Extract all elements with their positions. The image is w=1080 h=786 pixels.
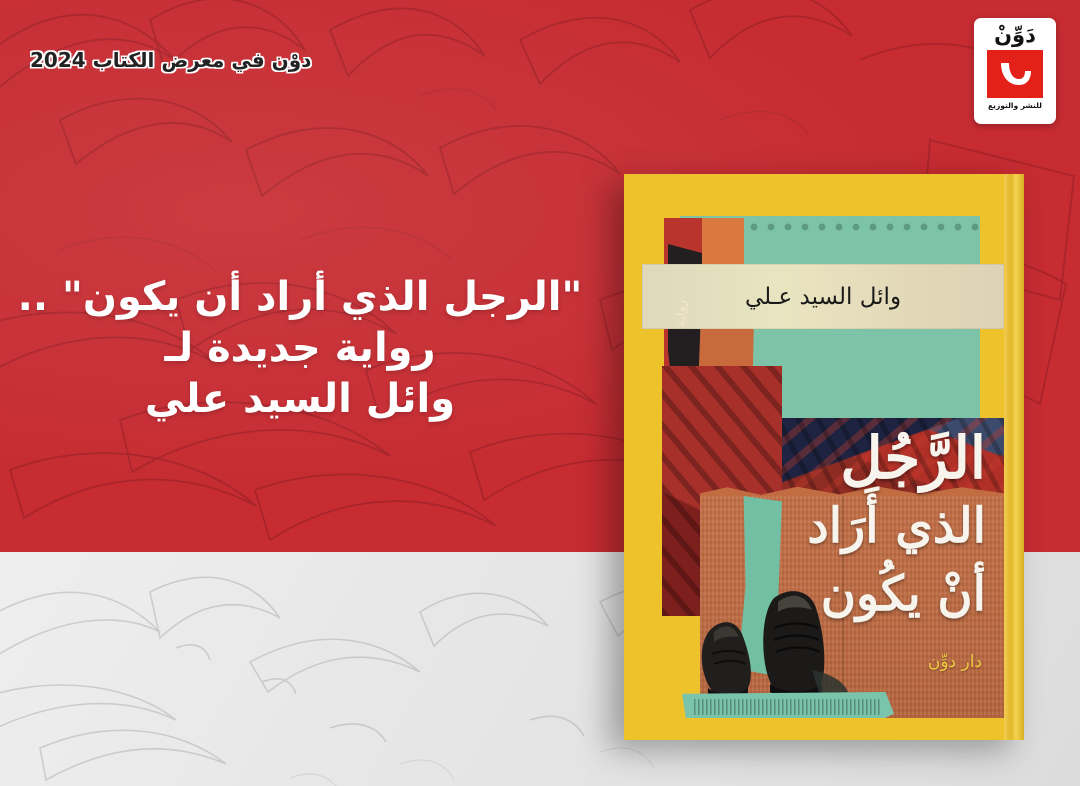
cover-author-name: وائل السيد عـلي	[642, 264, 1004, 329]
cover-title-line-3: أنْ يكُون	[821, 566, 986, 622]
poster-canvas: دوْن في معرض الكتاب 2024 دَوِّنْ للنشر و…	[0, 0, 1080, 786]
cover-layer-tape	[682, 692, 894, 718]
headline-line-1: "الرجل الذي أراد أن يكون" ..	[0, 272, 600, 323]
headline-line-3: وائل السيد علي	[0, 374, 600, 425]
book-mockup[interactable]: وائل السيد عـلي رواية الرَّجُل الذي أَرَ…	[624, 174, 1024, 740]
book-cover-artwork: وائل السيد عـلي رواية الرَّجُل الذي أَرَ…	[642, 196, 1004, 718]
logo-subtitle: للنشر والتوزيع	[988, 101, 1042, 110]
page-title: دوْن في معرض الكتاب 2024	[30, 48, 311, 72]
book-body: وائل السيد عـلي رواية الرَّجُل الذي أَرَ…	[624, 174, 1024, 740]
logo-wordmark: دَوِّنْ	[994, 25, 1036, 46]
headline-line-2: رواية جديدة لـ	[0, 323, 600, 374]
cover-genre-label: رواية	[668, 258, 694, 368]
cover-genre-label-text: رواية	[673, 300, 688, 327]
cover-publisher-name: دار دوِّن	[928, 652, 982, 672]
logo-mark-icon	[987, 50, 1043, 98]
headline: "الرجل الذي أراد أن يكون" .. رواية جديدة…	[0, 272, 600, 426]
book-page-edge	[1011, 174, 1024, 740]
book-spine-shine	[1004, 174, 1011, 740]
cover-title-line-1: الرَّجُل	[840, 424, 986, 492]
cover-title-line-2: الذي أَرَاد	[807, 498, 986, 554]
publisher-logo[interactable]: دَوِّنْ للنشر والتوزيع	[974, 18, 1056, 124]
